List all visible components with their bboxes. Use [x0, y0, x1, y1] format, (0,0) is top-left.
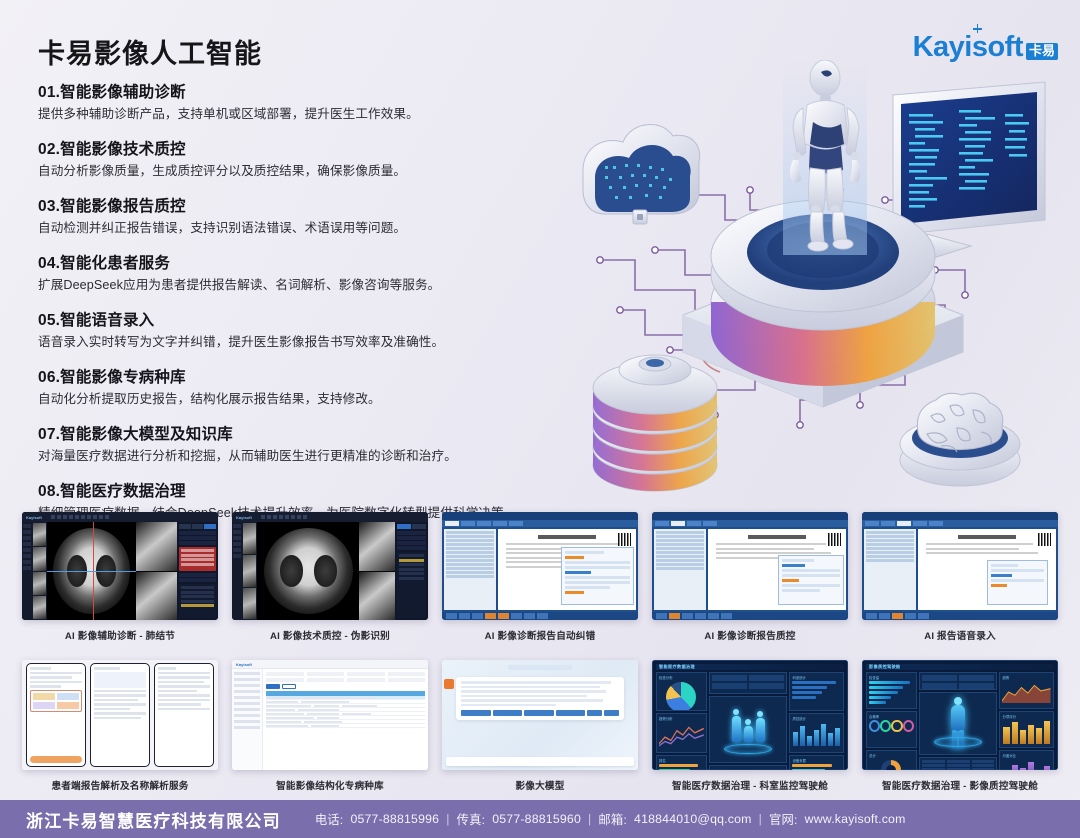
- sparkle-icon: [973, 24, 982, 33]
- screenshot-thumbnail[interactable]: Kayisoft: [232, 660, 428, 770]
- feature-desc: 自动化分析提取历史报告，结构化展示报告结果，支持修改。: [38, 391, 568, 408]
- feature-heading: 05.智能语音录入: [38, 308, 568, 330]
- brand-logo: Kayisoft 卡易: [913, 33, 1058, 62]
- feature-item-5: 05.智能语音录入 语音录入实时转写为文字并纠错，提升医生影像报告书写效率及准确…: [38, 308, 568, 351]
- fax-value: 0577-88815960: [492, 812, 581, 826]
- feature-desc: 自动分析影像质量，生成质控评分以及质控结果，确保影像质量。: [38, 163, 568, 180]
- cloud-icon: [583, 125, 700, 224]
- feature-desc: 自动检测并纠正报告错误，支持识别语法错误、术语误用等问题。: [38, 220, 568, 237]
- feature-heading: 07.智能影像大模型及知识库: [38, 422, 568, 444]
- hero-illustration: [575, 60, 1080, 510]
- screenshot-thumbnail[interactable]: Kayisoft: [22, 512, 218, 620]
- feature-item-7: 07.智能影像大模型及知识库 对海量医疗数据进行分析和挖掘，从而辅助医生进行更精…: [38, 422, 568, 465]
- feature-desc: 提供多种辅助诊断产品，支持单机或区域部署，提升医生工作效果。: [38, 106, 568, 123]
- screenshot-card-2[interactable]: Kayisoft: [232, 512, 428, 642]
- screenshot-card-7[interactable]: Kayisoft: [232, 660, 428, 792]
- phone-label: 电话:: [315, 810, 344, 828]
- screenshot-caption: 智能医疗数据治理 - 影像质控驾驶舱: [862, 778, 1058, 792]
- phone-value: 0577-88815996: [350, 812, 439, 826]
- screenshot-card-1[interactable]: Kayisoft: [22, 512, 218, 642]
- screenshot-caption: AI 影像技术质控 - 伪影识别: [232, 628, 428, 642]
- logo-wordmark: Kayisoft: [913, 33, 1023, 62]
- logo-chinese-mark: 卡易: [1026, 43, 1058, 60]
- separator: |: [759, 812, 762, 826]
- screenshot-card-9[interactable]: 智能医疗数据治理 检查分布 趋势分析 排名: [652, 660, 848, 792]
- screenshot-caption: 智能影像结构化专病种库: [232, 778, 428, 792]
- email-label: 邮箱:: [598, 810, 627, 828]
- brain-icon: [900, 393, 1020, 486]
- screenshot-thumbnail[interactable]: 智能医疗数据治理 检查分布 趋势分析 排名: [652, 660, 848, 770]
- company-name: 浙江卡易智慧医疗科技有限公司: [26, 807, 281, 832]
- feature-item-2: 02.智能影像技术质控 自动分析影像质量，生成质控评分以及质控结果，确保影像质量…: [38, 137, 568, 180]
- feature-item-3: 03.智能影像报告质控 自动检测并纠正报告错误，支持识别语法错误、术语误用等问题…: [38, 194, 568, 237]
- screenshot-caption: 影像大模型: [442, 778, 638, 792]
- feature-heading: 02.智能影像技术质控: [38, 137, 568, 159]
- screenshot-caption: AI 影像辅助诊断 - 肺结节: [22, 628, 218, 642]
- feature-heading: 08.智能医疗数据治理: [38, 479, 568, 501]
- feature-desc: 语音录入实时转写为文字并纠错，提升医生影像报告书写效率及准确性。: [38, 334, 568, 351]
- screenshot-gallery: Kayisoft: [0, 512, 1080, 792]
- feature-heading: 06.智能影像专病种库: [38, 365, 568, 387]
- screenshot-thumbnail[interactable]: [22, 660, 218, 770]
- feature-item-4: 04.智能化患者服务 扩展DeepSeek应用为患者提供报告解读、名词解析、影像…: [38, 251, 568, 294]
- screenshot-thumbnail[interactable]: [442, 660, 638, 770]
- website-value[interactable]: www.kayisoft.com: [805, 812, 906, 826]
- screenshot-card-10[interactable]: 影像质控驾驶舱 检查量 合格率 总分: [862, 660, 1058, 792]
- screenshot-caption: AI 影像诊断报告质控: [652, 628, 848, 642]
- separator: |: [588, 812, 591, 826]
- separator: |: [446, 812, 449, 826]
- feature-item-6: 06.智能影像专病种库 自动化分析提取历史报告，结构化展示报告结果，支持修改。: [38, 365, 568, 408]
- feature-desc: 扩展DeepSeek应用为患者提供报告解读、名词解析、影像咨询等服务。: [38, 277, 568, 294]
- screenshot-card-3[interactable]: AI 影像诊断报告自动纠错: [442, 512, 638, 642]
- feature-heading: 04.智能化患者服务: [38, 251, 568, 273]
- website-label: 官网:: [769, 810, 798, 828]
- screenshot-card-8[interactable]: 影像大模型: [442, 660, 638, 792]
- footer-bar: 浙江卡易智慧医疗科技有限公司 电话: 0577-88815996 | 传真: 0…: [0, 800, 1080, 838]
- feature-item-1: 01.智能影像辅助诊断 提供多种辅助诊断产品，支持单机或区域部署，提升医生工作效…: [38, 80, 568, 123]
- screenshot-thumbnail[interactable]: Kayisoft: [232, 512, 428, 620]
- database-stack: [593, 355, 717, 491]
- screenshot-card-5[interactable]: AI 报告语音录入: [862, 512, 1058, 642]
- page-title: 卡易影像人工智能: [38, 32, 262, 71]
- contact-info: 电话: 0577-88815996 | 传真: 0577-88815960 | …: [315, 810, 906, 828]
- feature-desc: 对海量医疗数据进行分析和挖掘，从而辅助医生进行更精准的诊断和治疗。: [38, 448, 568, 465]
- screenshot-thumbnail[interactable]: [442, 512, 638, 620]
- screenshot-row-1: Kayisoft: [0, 512, 1080, 642]
- screenshot-caption: AI 报告语音录入: [862, 628, 1058, 642]
- screenshot-thumbnail[interactable]: [652, 512, 848, 620]
- screenshot-thumbnail[interactable]: 影像质控驾驶舱 检查量 合格率 总分: [862, 660, 1058, 770]
- screenshot-caption: 患者端报告解析及名称解析服务: [22, 778, 218, 792]
- ai-scene-svg: [575, 60, 1080, 510]
- feature-list: 01.智能影像辅助诊断 提供多种辅助诊断产品，支持单机或区域部署，提升医生工作效…: [38, 80, 568, 536]
- screenshot-row-2: 患者端报告解析及名称解析服务 Kayisoft: [0, 660, 1080, 792]
- fax-label: 传真:: [457, 810, 486, 828]
- screenshot-caption: AI 影像诊断报告自动纠错: [442, 628, 638, 642]
- poster-page: 卡易影像人工智能 Kayisoft 卡易 01.智能影像辅助诊断 提供多种辅助诊…: [0, 0, 1080, 838]
- email-value[interactable]: 418844010@qq.com: [634, 812, 752, 826]
- screenshot-card-4[interactable]: AI 影像诊断报告质控: [652, 512, 848, 642]
- screenshot-card-6[interactable]: 患者端报告解析及名称解析服务: [22, 660, 218, 792]
- screenshot-thumbnail[interactable]: [862, 512, 1058, 620]
- feature-heading: 03.智能影像报告质控: [38, 194, 568, 216]
- feature-heading: 01.智能影像辅助诊断: [38, 80, 568, 102]
- screenshot-caption: 智能医疗数据治理 - 科室监控驾驶舱: [652, 778, 848, 792]
